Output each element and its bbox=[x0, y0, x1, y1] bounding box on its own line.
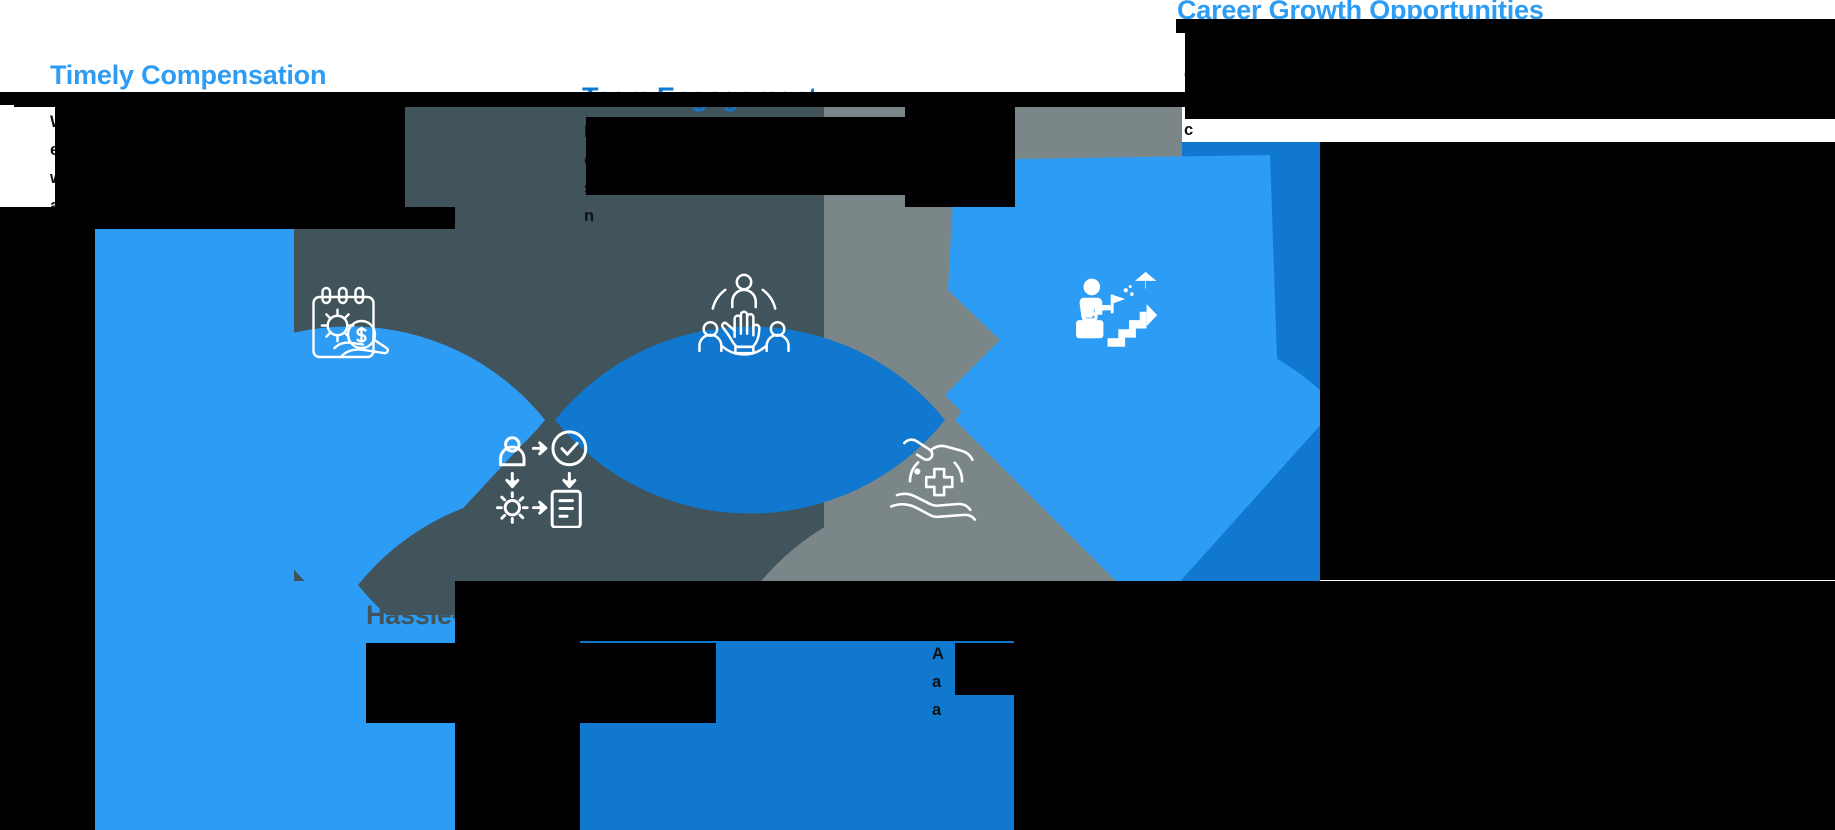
redaction-bar bbox=[905, 107, 1015, 207]
calendar-payday-icon bbox=[300, 282, 396, 378]
team-hands-circle-icon bbox=[694, 268, 794, 368]
career-growth-banner[interactable] bbox=[940, 150, 1330, 570]
redaction-bar bbox=[955, 643, 1315, 695]
infographic-canvas: Timely Compensation Team Engagement Care… bbox=[0, 0, 1835, 830]
career-ladder-icon bbox=[1062, 253, 1168, 359]
redaction-bar bbox=[95, 207, 295, 229]
redaction-bar bbox=[0, 92, 330, 105]
redaction-bar bbox=[55, 107, 405, 217]
redaction-bar bbox=[1320, 142, 1835, 580]
onboarding-workflow-icon bbox=[492, 428, 592, 528]
redaction-bar bbox=[0, 581, 95, 830]
banner-shape bbox=[945, 155, 1280, 570]
redaction-bar bbox=[1185, 31, 1835, 119]
redaction-bar bbox=[366, 643, 716, 723]
heading-timely-compensation: Timely Compensation bbox=[50, 62, 326, 89]
redaction-bar bbox=[294, 207, 455, 229]
healthcare-hands-cross-icon bbox=[884, 432, 988, 524]
redaction-bar bbox=[1176, 19, 1835, 33]
